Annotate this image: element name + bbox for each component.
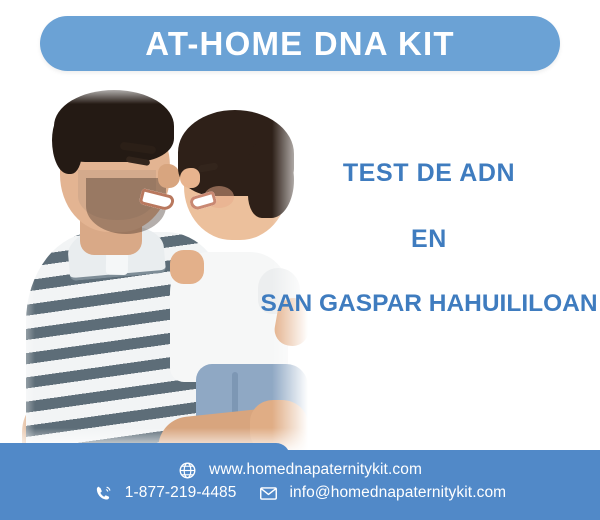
footer-rows: www.homednapaternitykit.com 1-877-219-44… — [0, 443, 600, 520]
poster-canvas: AT-HOME DNA KIT — [0, 0, 600, 520]
phone-contact-item[interactable]: 1-877-219-4485 — [94, 484, 237, 503]
website-contact-item[interactable]: www.homednapaternitykit.com — [178, 461, 422, 480]
footer-row-website: www.homednapaternitykit.com — [178, 461, 422, 480]
website-text: www.homednapaternitykit.com — [209, 461, 422, 479]
email-contact-item[interactable]: info@homednapaternitykit.com — [259, 484, 507, 503]
footer-row-phone-email: 1-877-219-4485 info@homednapaternitykit.… — [94, 484, 506, 503]
phone-text: 1-877-219-4485 — [125, 484, 237, 502]
headline-line-3: SAN GASPAR HAHUILILOAN — [258, 291, 600, 318]
email-text: info@homednapaternitykit.com — [290, 484, 507, 502]
footer-contact-bar: www.homednapaternitykit.com 1-877-219-44… — [0, 443, 600, 520]
headline-block: TEST DE ADN EN SAN GASPAR HAHUILILOAN — [258, 160, 600, 318]
envelope-icon — [259, 484, 278, 503]
globe-icon — [178, 461, 197, 480]
page-title: AT-HOME DNA KIT — [145, 25, 454, 63]
phone-icon — [94, 484, 113, 503]
header-banner: AT-HOME DNA KIT — [40, 16, 560, 71]
headline-line-1: TEST DE ADN — [258, 160, 600, 188]
headline-line-2: EN — [258, 226, 600, 254]
